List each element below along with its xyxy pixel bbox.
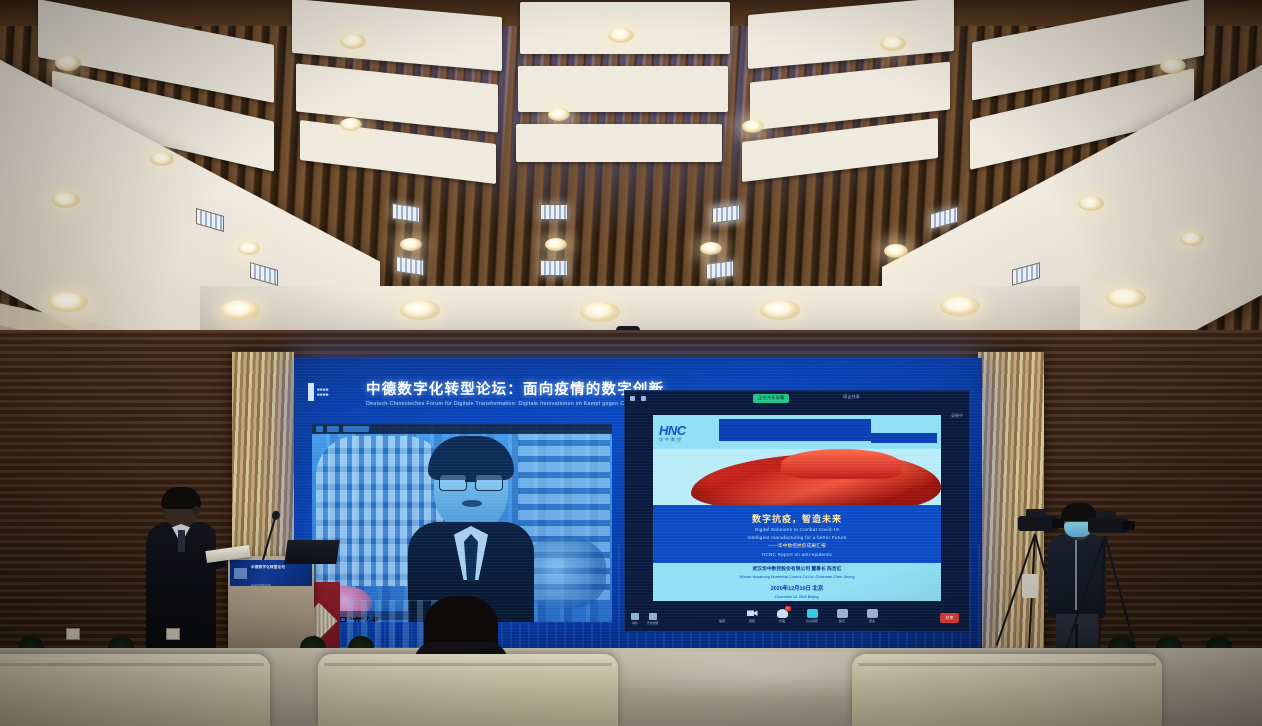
- video-small-icon: [649, 613, 657, 620]
- video-camera-handle: [1096, 511, 1116, 519]
- ceiling-downlight: [400, 238, 422, 251]
- camera-icon: 2: [747, 609, 758, 618]
- ceiling-downlight: [548, 108, 570, 121]
- ceiling-downlight: [880, 36, 906, 51]
- podium-sign-subtitle: 面向疫情的数字创新: [251, 585, 271, 586]
- feed-foliage: [522, 538, 606, 608]
- slide-header-bar: [719, 419, 871, 441]
- podium-logo-icon: [234, 568, 247, 579]
- left-tool-mute[interactable]: 静音: [631, 613, 639, 625]
- toolbar-label: 聊天: [839, 619, 845, 623]
- participants-icon: 3: [777, 609, 788, 618]
- toolbar-button-share[interactable]: 共享屏幕: [806, 609, 819, 624]
- led-wall-screen: ■■■■■■■■ 中德数字化转型论坛：面向疫情的数字创新 Deutsch-Chi…: [294, 358, 982, 654]
- ceiling-led-panel: [540, 204, 568, 220]
- soffit-downlight: [48, 292, 88, 312]
- ceiling-led-panel: [712, 204, 740, 223]
- shared-slide: HNC 华中数控 数字抗疫，智造未来 Digital Solutions to …: [653, 415, 941, 601]
- ceiling-downlight: [52, 192, 80, 208]
- ceiling-led-panel: [706, 260, 734, 279]
- ceiling-panel: [516, 124, 722, 162]
- conference-hall-photo: ■■■■■■■■ 中德数字化转型论坛：面向疫情的数字创新 Deutsch-Chi…: [0, 0, 1262, 726]
- info-icon[interactable]: [641, 396, 646, 401]
- stop-share-label[interactable]: 停止共享: [843, 394, 860, 400]
- badge-count: 2: [755, 606, 761, 611]
- ceiling-downlight: [340, 34, 366, 49]
- chat-icon: [837, 609, 848, 618]
- ceiling-downlight: [238, 242, 260, 255]
- remote-speaker-person: [408, 438, 534, 622]
- left-tool-label: 静音: [632, 621, 638, 625]
- slide-line-en-1: Digital Solutions to Combat Covid-19: [755, 527, 839, 532]
- toolbar-button-video[interactable]: 2 视频: [746, 609, 759, 624]
- video-camera-lens-icon: [1122, 521, 1135, 530]
- toolbar-button-mute[interactable]: 静音: [716, 609, 729, 624]
- ceiling-downlight: [608, 28, 634, 43]
- toolbar-label: 视频: [749, 619, 755, 623]
- slide-hero-image: [653, 449, 941, 505]
- soffit-downlight: [1106, 288, 1146, 308]
- more-icon: [867, 609, 878, 618]
- wall-socket: [66, 628, 80, 640]
- menu-icon[interactable]: [630, 396, 635, 401]
- forum-subtitle-de: Deutsch-Chinesisches Forum für Digitale …: [366, 401, 664, 407]
- company-logo-cn: 华中数控: [659, 437, 717, 443]
- left-tool-video[interactable]: 开启视频: [647, 613, 658, 625]
- recording-label: 录制中: [951, 413, 963, 419]
- host-necktie: [178, 530, 185, 552]
- slide-org-cn: 武汉华中数控股份有限公司 董事长 陈吉红: [752, 565, 841, 572]
- slide-line-cn-2: ——华中数控抗疫成果汇报: [768, 542, 826, 549]
- toolbar-label: 静音: [719, 619, 725, 623]
- forum-logo-icon: ■■■■■■■■: [308, 380, 356, 404]
- conference-toolbar[interactable]: 静音 2 视频 3 管理 共享屏幕 聊天: [625, 605, 969, 627]
- soffit-downlight: [220, 300, 260, 320]
- operator-jacket-zip: [1075, 540, 1077, 610]
- slide-title-band: 数字抗疫，智造未来 Digital Solutions to Combat Co…: [653, 505, 941, 563]
- forum-title-cn: 中德数字化转型论坛：面向疫情的数字创新: [366, 378, 664, 399]
- ceiling-downlight: [55, 55, 81, 71]
- slide-header-bar-secondary: [871, 433, 937, 443]
- ceiling-downlight: [742, 120, 764, 133]
- conference-left-tools[interactable]: 静音 开启视频: [631, 613, 658, 625]
- toolbar-label: 管理: [779, 619, 785, 623]
- toolbar-button-participants[interactable]: 3 管理: [776, 609, 789, 624]
- slide-date-cn: 2020年12月10日 北京: [771, 584, 823, 592]
- soffit-downlight: [400, 300, 440, 320]
- speaker-mouth: [462, 500, 482, 507]
- ceiling-downlight: [1160, 58, 1186, 74]
- toolbar-label: 共享屏幕: [806, 619, 818, 623]
- wall-socket: [166, 628, 180, 640]
- slide-date-en: December 10, 2020 Beijing: [775, 595, 818, 599]
- host-ear: [192, 506, 200, 515]
- toolbar-button-more[interactable]: 更多: [866, 609, 879, 624]
- conference-app-window[interactable]: 正在共享屏幕 停止共享 录制中 HNC 华中数控 数字抗疫，智造未来 Digit…: [624, 390, 970, 632]
- ceiling-downlight: [1078, 196, 1104, 211]
- ceiling-downlight: [340, 118, 362, 131]
- slide-line-en-3: HCNC Report on anti-epidemic: [762, 552, 832, 557]
- podium-laptop: [284, 540, 339, 564]
- foreground-chair-right: [852, 654, 1162, 726]
- slide-footer: 武汉华中数控股份有限公司 董事长 陈吉红 Wuhan Huazhong Nume…: [653, 563, 941, 601]
- red-silk-highlight: [781, 449, 901, 479]
- podium-host-person: [144, 490, 224, 668]
- soffit-downlight: [580, 302, 620, 322]
- company-logo-mark: HNC: [659, 424, 717, 437]
- video-camera-handle: [1026, 509, 1046, 517]
- ceiling-downlight: [884, 244, 908, 258]
- company-logo: HNC 华中数控: [659, 420, 717, 446]
- foreground-chair-center: [318, 654, 618, 726]
- ceiling-downlight: [545, 238, 567, 251]
- remote-speaker-video-feed: 远程连线: [312, 424, 612, 622]
- podium-sign-title: 中德数字化转型论坛: [251, 565, 285, 569]
- screen-share-status-pill[interactable]: 正在共享屏幕: [753, 394, 789, 403]
- soffit-downlight: [760, 300, 800, 320]
- toolbar-button-chat[interactable]: 聊天: [836, 609, 849, 624]
- slide-headline-cn: 数字抗疫，智造未来: [752, 512, 842, 525]
- tripod-accessory: [1022, 574, 1038, 598]
- soffit-downlight: [940, 296, 980, 316]
- left-tool-label: 开启视频: [647, 621, 658, 625]
- badge-count: 3: [785, 606, 791, 611]
- ceiling-downlight: [1180, 232, 1204, 246]
- mic-small-icon: [631, 613, 639, 620]
- feed-top-toolbar: [312, 424, 612, 434]
- ceiling-downlight: [700, 242, 722, 255]
- share-screen-icon: [807, 609, 818, 618]
- foreground-chair-left: [0, 654, 270, 726]
- conference-window-titlebar: [625, 391, 969, 405]
- eyeglasses-icon: [439, 474, 503, 489]
- ceiling-led-panel: [540, 260, 568, 276]
- slide-org-en: Wuhan Huazhong Numerical Control Co.Ltd.…: [740, 575, 855, 579]
- slide-line-en-2: Intelligent manufacturing for a better F…: [747, 535, 846, 540]
- ceiling-panel: [518, 66, 728, 112]
- end-call-button[interactable]: 结束: [940, 613, 959, 623]
- ceiling-downlight: [150, 152, 174, 166]
- toolbar-label: 更多: [869, 619, 875, 623]
